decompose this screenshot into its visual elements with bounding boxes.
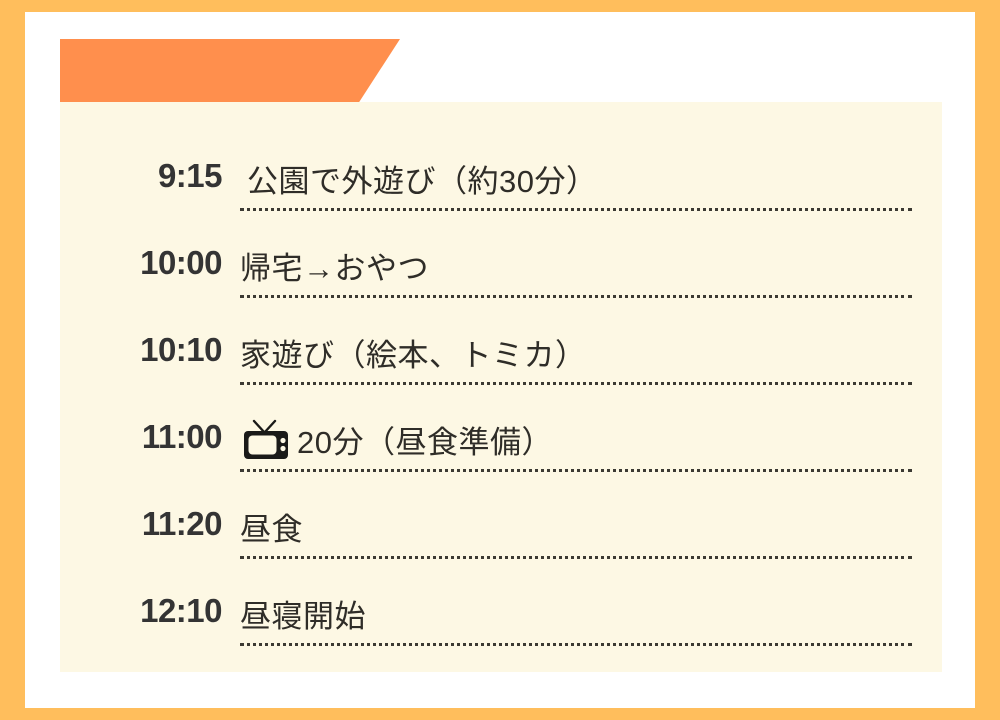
schedule-row: 11:00 20分（昼食準備）	[90, 385, 912, 472]
row-body: 20分（昼食準備）	[240, 418, 912, 472]
row-description: 20分（昼食準備）	[297, 427, 553, 460]
row-time: 10:00	[90, 244, 240, 298]
row-body: 昼寝開始	[240, 601, 912, 646]
television-icon	[240, 419, 292, 461]
row-time: 12:10	[90, 592, 240, 646]
schedule-row: 10:10 家遊び（絵本、トミカ）	[90, 298, 912, 385]
schedule-row: 9:15 公園で外遊び（約30分）	[90, 124, 912, 211]
row-description: 公園で外遊び（約30分）	[240, 166, 597, 199]
row-description: 昼寝開始	[240, 601, 366, 634]
schedule-row: 12:10 昼寝開始	[90, 559, 912, 646]
row-time: 11:20	[90, 505, 240, 559]
row-description: 昼食	[240, 514, 303, 547]
schedule-row: 10:00 帰宅→おやつ	[90, 211, 912, 298]
page-frame: 午前の部 9:15 公園で外遊び（約30分） 10:00 帰宅→おやつ 10:1…	[0, 0, 1000, 720]
row-description: 帰宅→おやつ	[240, 253, 429, 286]
row-body: 公園で外遊び（約30分）	[240, 166, 912, 211]
row-body: 昼食	[240, 514, 912, 559]
row-time: 9:15	[90, 157, 240, 211]
row-time: 10:10	[90, 331, 240, 385]
row-time: 11:00	[90, 418, 240, 472]
row-body: 帰宅→おやつ	[240, 253, 912, 298]
page-inner: 午前の部 9:15 公園で外遊び（約30分） 10:00 帰宅→おやつ 10:1…	[25, 12, 975, 708]
schedule-row: 11:20 昼食	[90, 472, 912, 559]
section-ribbon	[60, 39, 400, 102]
row-description: 家遊び（絵本、トミカ）	[240, 340, 587, 373]
row-body: 家遊び（絵本、トミカ）	[240, 340, 912, 385]
schedule-panel: 9:15 公園で外遊び（約30分） 10:00 帰宅→おやつ 10:10 家遊び…	[60, 102, 942, 672]
